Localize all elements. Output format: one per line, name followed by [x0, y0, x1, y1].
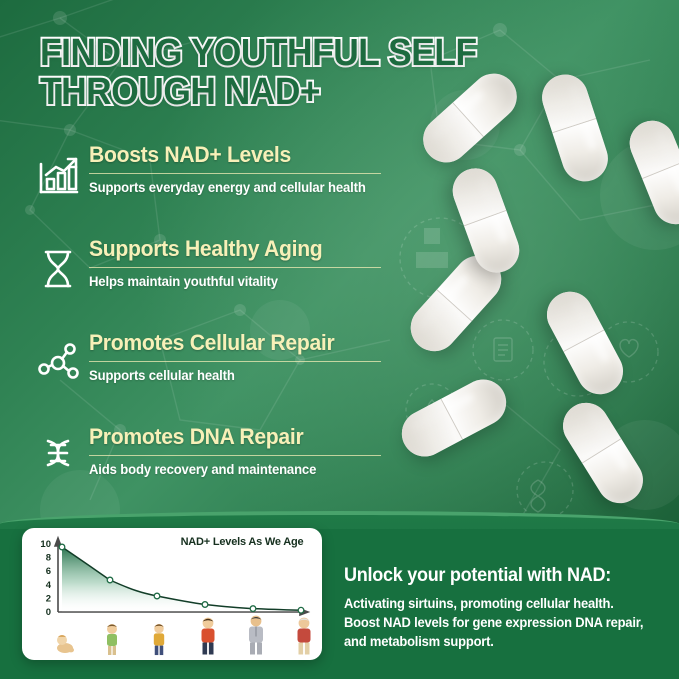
unlock-text-block: Unlock your potential with NAD: Activati… [344, 565, 662, 651]
feature-heading: Supports Healthy Aging [89, 237, 382, 262]
capsule [536, 69, 614, 188]
y-tick-10: 10 [40, 539, 51, 550]
unlock-title: Unlock your potential with NAD: [344, 565, 646, 587]
feature-subtitle: Aids body recovery and maintenance [89, 462, 385, 478]
capsule [554, 394, 651, 512]
capsule [401, 246, 511, 361]
feature-subtitle: Supports everyday energy and cellular he… [89, 180, 385, 196]
capsule [623, 114, 679, 231]
feature-rule [89, 455, 381, 456]
life-stage-child-icon [101, 622, 123, 656]
feature-item-supports-healthy-aging: Supports Healthy Aging Helps maintain yo… [34, 237, 394, 323]
y-tick-8: 8 [46, 553, 51, 564]
capsule [394, 371, 514, 464]
y-tick-4: 4 [46, 580, 52, 591]
dna-helix-icon [34, 433, 82, 481]
title-line-1: FINDING YOUTHFUL SELF [40, 34, 477, 73]
feature-item-boosts-nad-levels: Boosts NAD+ Levels Supports everyday ene… [34, 143, 394, 229]
data-point-1 [107, 577, 113, 583]
data-point-3 [202, 602, 208, 608]
feature-rule [89, 361, 381, 362]
feature-list: Boosts NAD+ Levels Supports everyday ene… [34, 143, 394, 519]
bar-chart-growth-icon [34, 151, 82, 199]
page-title: FINDING YOUTHFUL SELF THROUGH NAD+ [40, 34, 477, 112]
data-point-0 [59, 544, 65, 550]
life-stage-baby-icon [53, 626, 77, 656]
life-stage-adult-icon [244, 614, 268, 656]
capsule [446, 162, 525, 279]
product-infographic: FINDING YOUTHFUL SELF THROUGH NAD+ Boost… [0, 0, 679, 679]
unlock-line-2: Boost NAD levels for gene expression DNA… [344, 613, 649, 632]
feature-subtitle: Supports cellular health [89, 368, 385, 384]
hourglass-icon [34, 245, 82, 293]
feature-heading: Promotes Cellular Repair [89, 331, 382, 356]
chart-area [62, 547, 301, 612]
feature-item-promotes-cellular-repair: Promotes Cellular Repair Supports cellul… [34, 331, 394, 417]
y-tick-2: 2 [46, 593, 51, 604]
life-stage-youth-icon [148, 622, 170, 656]
decorative-blob [600, 140, 679, 250]
y-tick-0: 0 [46, 607, 51, 618]
data-point-4 [250, 606, 256, 612]
feature-rule [89, 173, 381, 174]
data-point-5 [298, 607, 304, 613]
y-tick-6: 6 [46, 566, 51, 577]
unlock-body: Activating sirtuins, promoting cellular … [344, 594, 649, 651]
life-stage-elderly-icon [292, 616, 316, 656]
feature-rule [89, 267, 381, 268]
capsule [539, 284, 631, 403]
title-line-2: THROUGH NAD+ [40, 73, 477, 112]
unlock-line-3: and metabolism support. [344, 632, 649, 651]
feature-item-promotes-dna-repair: Promotes DNA Repair Aids body recovery a… [34, 425, 394, 511]
data-point-2 [154, 593, 160, 599]
feature-heading: Promotes DNA Repair [89, 425, 382, 450]
feature-subtitle: Helps maintain youthful vitality [89, 274, 385, 290]
life-stage-teen-icon [196, 616, 220, 656]
unlock-line-1: Activating sirtuins, promoting cellular … [344, 594, 649, 613]
molecule-icon [34, 339, 82, 387]
feature-heading: Boosts NAD+ Levels [89, 143, 382, 168]
nad-decline-chart-card: NAD+ Levels As We Age 10 8 6 4 2 0 [22, 528, 322, 660]
decorative-blob [600, 420, 679, 510]
